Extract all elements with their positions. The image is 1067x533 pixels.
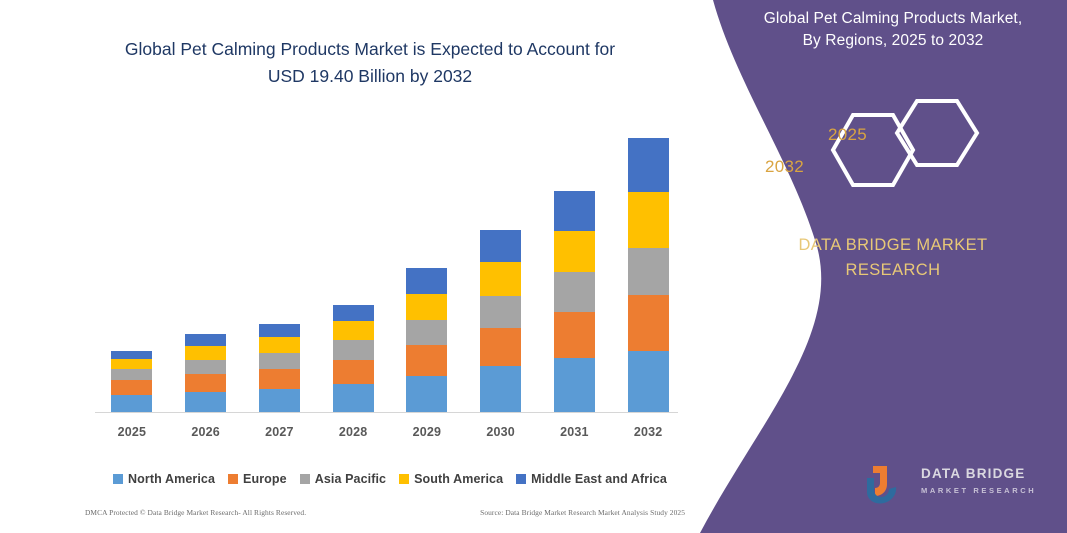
- bar-segment[interactable]: [554, 312, 595, 358]
- panel-content: Global Pet Calming Products Market, By R…: [733, 0, 1067, 533]
- x-axis-label-2029: 2029: [390, 425, 464, 439]
- bar-segment[interactable]: [185, 392, 226, 412]
- stacked-bar[interactable]: [259, 324, 300, 412]
- legend-swatch-icon: [516, 474, 526, 484]
- brand-line1: DATA BRIDGE MARKET: [798, 236, 987, 254]
- stacked-bar[interactable]: [554, 191, 595, 412]
- bar-segment[interactable]: [554, 191, 595, 231]
- bar-group-2026: [169, 120, 243, 412]
- legend-label: Europe: [243, 472, 287, 486]
- logo-tagline: MARKET RESEARCH: [921, 486, 1036, 495]
- bar-group-2029: [390, 120, 464, 412]
- bar-segment[interactable]: [406, 294, 447, 320]
- bar-segment[interactable]: [185, 346, 226, 360]
- bar-segment[interactable]: [111, 351, 152, 359]
- bar-segment[interactable]: [628, 248, 669, 295]
- x-axis-labels: 20252026202720282029203020312032: [95, 425, 685, 439]
- bar-segment[interactable]: [554, 358, 595, 412]
- legend-label: North America: [128, 472, 215, 486]
- legend-label: Asia Pacific: [315, 472, 386, 486]
- legend-item[interactable]: North America: [113, 472, 215, 486]
- bar-segment[interactable]: [111, 380, 152, 395]
- logo-name: DATA BRIDGE: [921, 466, 1025, 481]
- data-bridge-logo: DATA BRIDGE MARKET RESEARCH: [863, 462, 1063, 512]
- legend-item[interactable]: South America: [399, 472, 503, 486]
- bar-segment[interactable]: [111, 359, 152, 369]
- bar-segment[interactable]: [480, 262, 521, 296]
- legend-swatch-icon: [399, 474, 409, 484]
- bar-segment[interactable]: [406, 320, 447, 345]
- bar-segment[interactable]: [628, 351, 669, 412]
- bar-group-2032: [611, 120, 685, 412]
- panel-title: Global Pet Calming Products Market, By R…: [733, 8, 1053, 52]
- bar-segment[interactable]: [259, 324, 300, 337]
- hexagon-badges: [825, 95, 985, 205]
- legend-swatch-icon: [228, 474, 238, 484]
- bar-group-2030: [464, 120, 538, 412]
- bar-segment[interactable]: [259, 369, 300, 389]
- bar-group-2028: [316, 120, 390, 412]
- panel-title-line1: Global Pet Calming Products Market,: [764, 10, 1023, 27]
- bar-segment[interactable]: [185, 374, 226, 392]
- footer-copyright: DMCA Protected © Data Bridge Market Rese…: [85, 508, 306, 517]
- bar-group-2027: [243, 120, 317, 412]
- bar-segment[interactable]: [480, 230, 521, 262]
- logo-mark-icon: [863, 462, 919, 508]
- panel-title-line2: By Regions, 2025 to 2032: [733, 30, 1053, 52]
- legend-swatch-icon: [113, 474, 123, 484]
- stacked-bar-chart: [95, 120, 685, 412]
- x-axis-label-2027: 2027: [243, 425, 317, 439]
- bar-segment[interactable]: [259, 353, 300, 369]
- chart-title-line1: Global Pet Calming Products Market is Ex…: [125, 39, 615, 59]
- bar-segment[interactable]: [111, 369, 152, 380]
- stacked-bar[interactable]: [333, 305, 374, 412]
- bar-segment[interactable]: [554, 272, 595, 312]
- stacked-bar[interactable]: [111, 351, 152, 412]
- infographic-canvas: Global Pet Calming Products Market, By R…: [0, 0, 1067, 533]
- bar-group-2031: [538, 120, 612, 412]
- stacked-bar[interactable]: [480, 230, 521, 412]
- footer-source: Source: Data Bridge Market Research Mark…: [480, 508, 685, 517]
- legend-swatch-icon: [300, 474, 310, 484]
- bar-segment[interactable]: [185, 334, 226, 346]
- bar-segment[interactable]: [333, 305, 374, 321]
- bar-segment[interactable]: [333, 321, 374, 340]
- bar-segment[interactable]: [628, 295, 669, 351]
- hexagon-2025-outline: [897, 101, 977, 165]
- bar-segment[interactable]: [480, 296, 521, 328]
- bar-segment[interactable]: [333, 360, 374, 384]
- x-axis-label-2032: 2032: [611, 425, 685, 439]
- x-axis-label-2030: 2030: [464, 425, 538, 439]
- bar-segment[interactable]: [628, 138, 669, 192]
- chart-title-line2: USD 19.40 Billion by 2032: [60, 63, 680, 90]
- bar-segment[interactable]: [259, 337, 300, 353]
- stacked-bar[interactable]: [185, 334, 226, 412]
- bar-segment[interactable]: [333, 384, 374, 412]
- brand-name: DATA BRIDGE MARKET RESEARCH: [733, 233, 1053, 283]
- bar-group-2025: [95, 120, 169, 412]
- bar-segment[interactable]: [406, 376, 447, 412]
- legend-item[interactable]: Middle East and Africa: [516, 472, 667, 486]
- bar-segment[interactable]: [259, 389, 300, 412]
- x-axis-label-2025: 2025: [95, 425, 169, 439]
- x-axis-label-2031: 2031: [538, 425, 612, 439]
- x-axis-label-2028: 2028: [316, 425, 390, 439]
- stacked-bar[interactable]: [628, 138, 669, 412]
- bar-segment[interactable]: [185, 360, 226, 374]
- hexagon-2025-label: 2025: [828, 125, 867, 145]
- bar-segment[interactable]: [333, 340, 374, 360]
- legend-label: Middle East and Africa: [531, 472, 667, 486]
- hexagon-2032-label: 2032: [765, 157, 804, 177]
- legend-label: South America: [414, 472, 503, 486]
- bar-segment[interactable]: [628, 192, 669, 248]
- brand-line2: RESEARCH: [733, 258, 1053, 283]
- bar-segment[interactable]: [480, 328, 521, 366]
- bar-segment[interactable]: [554, 231, 595, 272]
- bar-segment[interactable]: [406, 345, 447, 376]
- bar-segment[interactable]: [406, 268, 447, 294]
- stacked-bar[interactable]: [406, 268, 447, 412]
- bar-segment[interactable]: [480, 366, 521, 412]
- x-axis-label-2026: 2026: [169, 425, 243, 439]
- x-axis-line: [95, 412, 678, 413]
- bar-segment[interactable]: [111, 395, 152, 412]
- footer: DMCA Protected © Data Bridge Market Rese…: [85, 508, 685, 517]
- chart-title: Global Pet Calming Products Market is Ex…: [60, 36, 680, 90]
- legend-item[interactable]: Europe: [228, 472, 287, 486]
- chart-legend: North AmericaEuropeAsia PacificSouth Ame…: [95, 472, 685, 486]
- legend-item[interactable]: Asia Pacific: [300, 472, 386, 486]
